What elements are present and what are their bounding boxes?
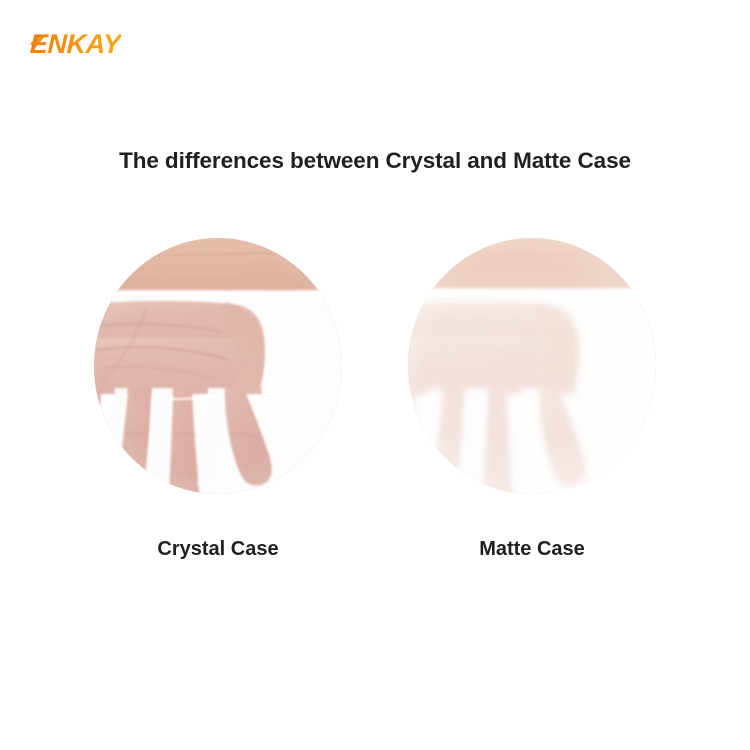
comparison-panel-matte xyxy=(406,238,656,494)
hand-through-matte-case-photo xyxy=(408,238,656,494)
page-title: The differences between Crystal and Matt… xyxy=(0,148,750,174)
caption-crystal-case: Crystal Case xyxy=(68,538,368,561)
comparison-row xyxy=(0,238,750,498)
caption-matte-case: Matte Case xyxy=(382,538,682,561)
comparison-panel-crystal xyxy=(92,238,342,494)
brand-name: ENKAY xyxy=(29,27,121,61)
hand-through-crystal-case-photo xyxy=(94,238,342,494)
product-comparison-page: ENKAY The differences between Crystal an… xyxy=(0,0,750,750)
brand-logo: ENKAY xyxy=(30,27,230,61)
